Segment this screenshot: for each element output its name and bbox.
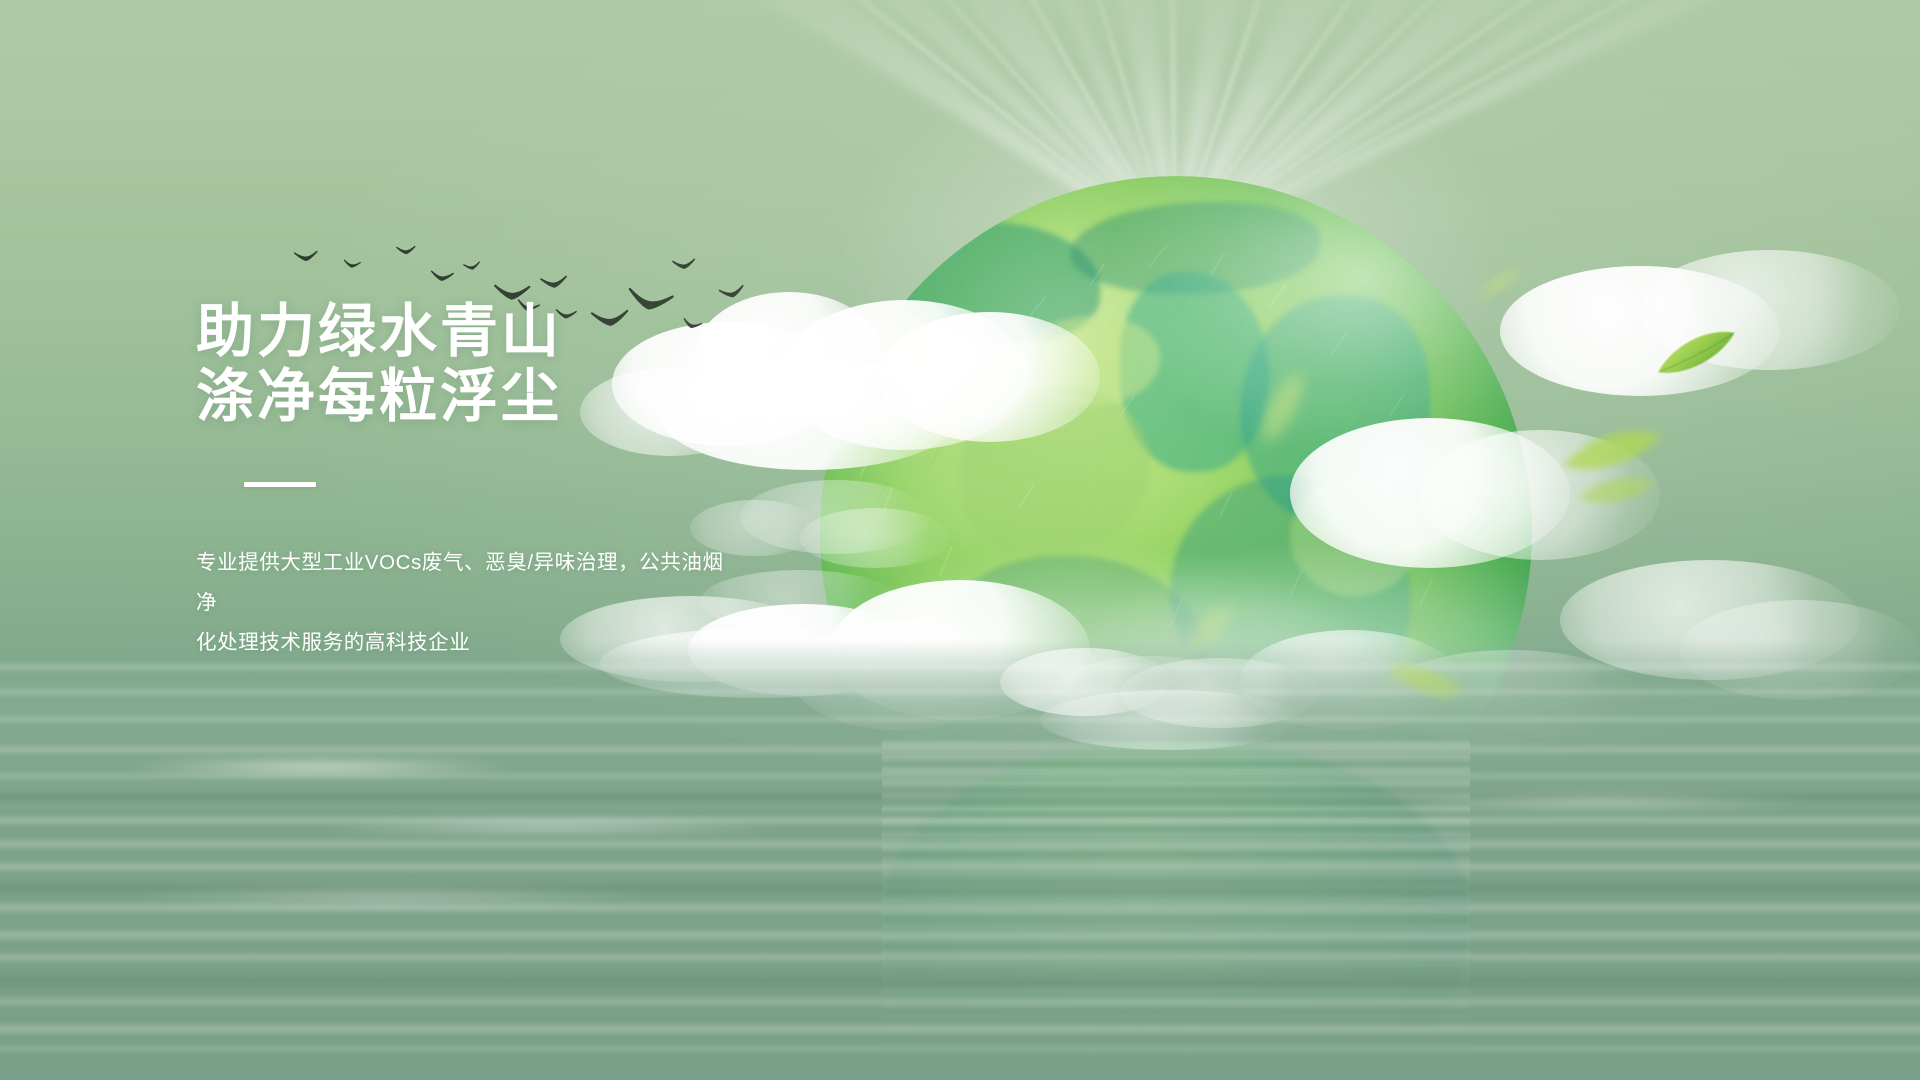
banner-hero: 助力绿水青山 涤净每粒浮尘 专业提供大型工业VOCs废气、恶臭/异味治理，公共油… [0, 0, 1920, 1080]
description-line-2: 化处理技术服务的高科技企业 [196, 623, 726, 663]
hero-copy: 助力绿水青山 涤净每粒浮尘 专业提供大型工业VOCs废气、恶臭/异味治理，公共油… [196, 300, 956, 663]
description-line-1: 专业提供大型工业VOCs废气、恶臭/异味治理，公共油烟净 [196, 543, 726, 623]
headline-line-1: 助力绿水青山 [196, 299, 562, 364]
page-title: 助力绿水青山 涤净每粒浮尘 [196, 300, 956, 430]
headline-line-2: 涤净每粒浮尘 [196, 365, 956, 430]
accent-rule [244, 482, 316, 487]
water-surface [0, 640, 1920, 1080]
hero-description: 专业提供大型工业VOCs废气、恶臭/异味治理，公共油烟净 化处理技术服务的高科技… [196, 543, 726, 663]
